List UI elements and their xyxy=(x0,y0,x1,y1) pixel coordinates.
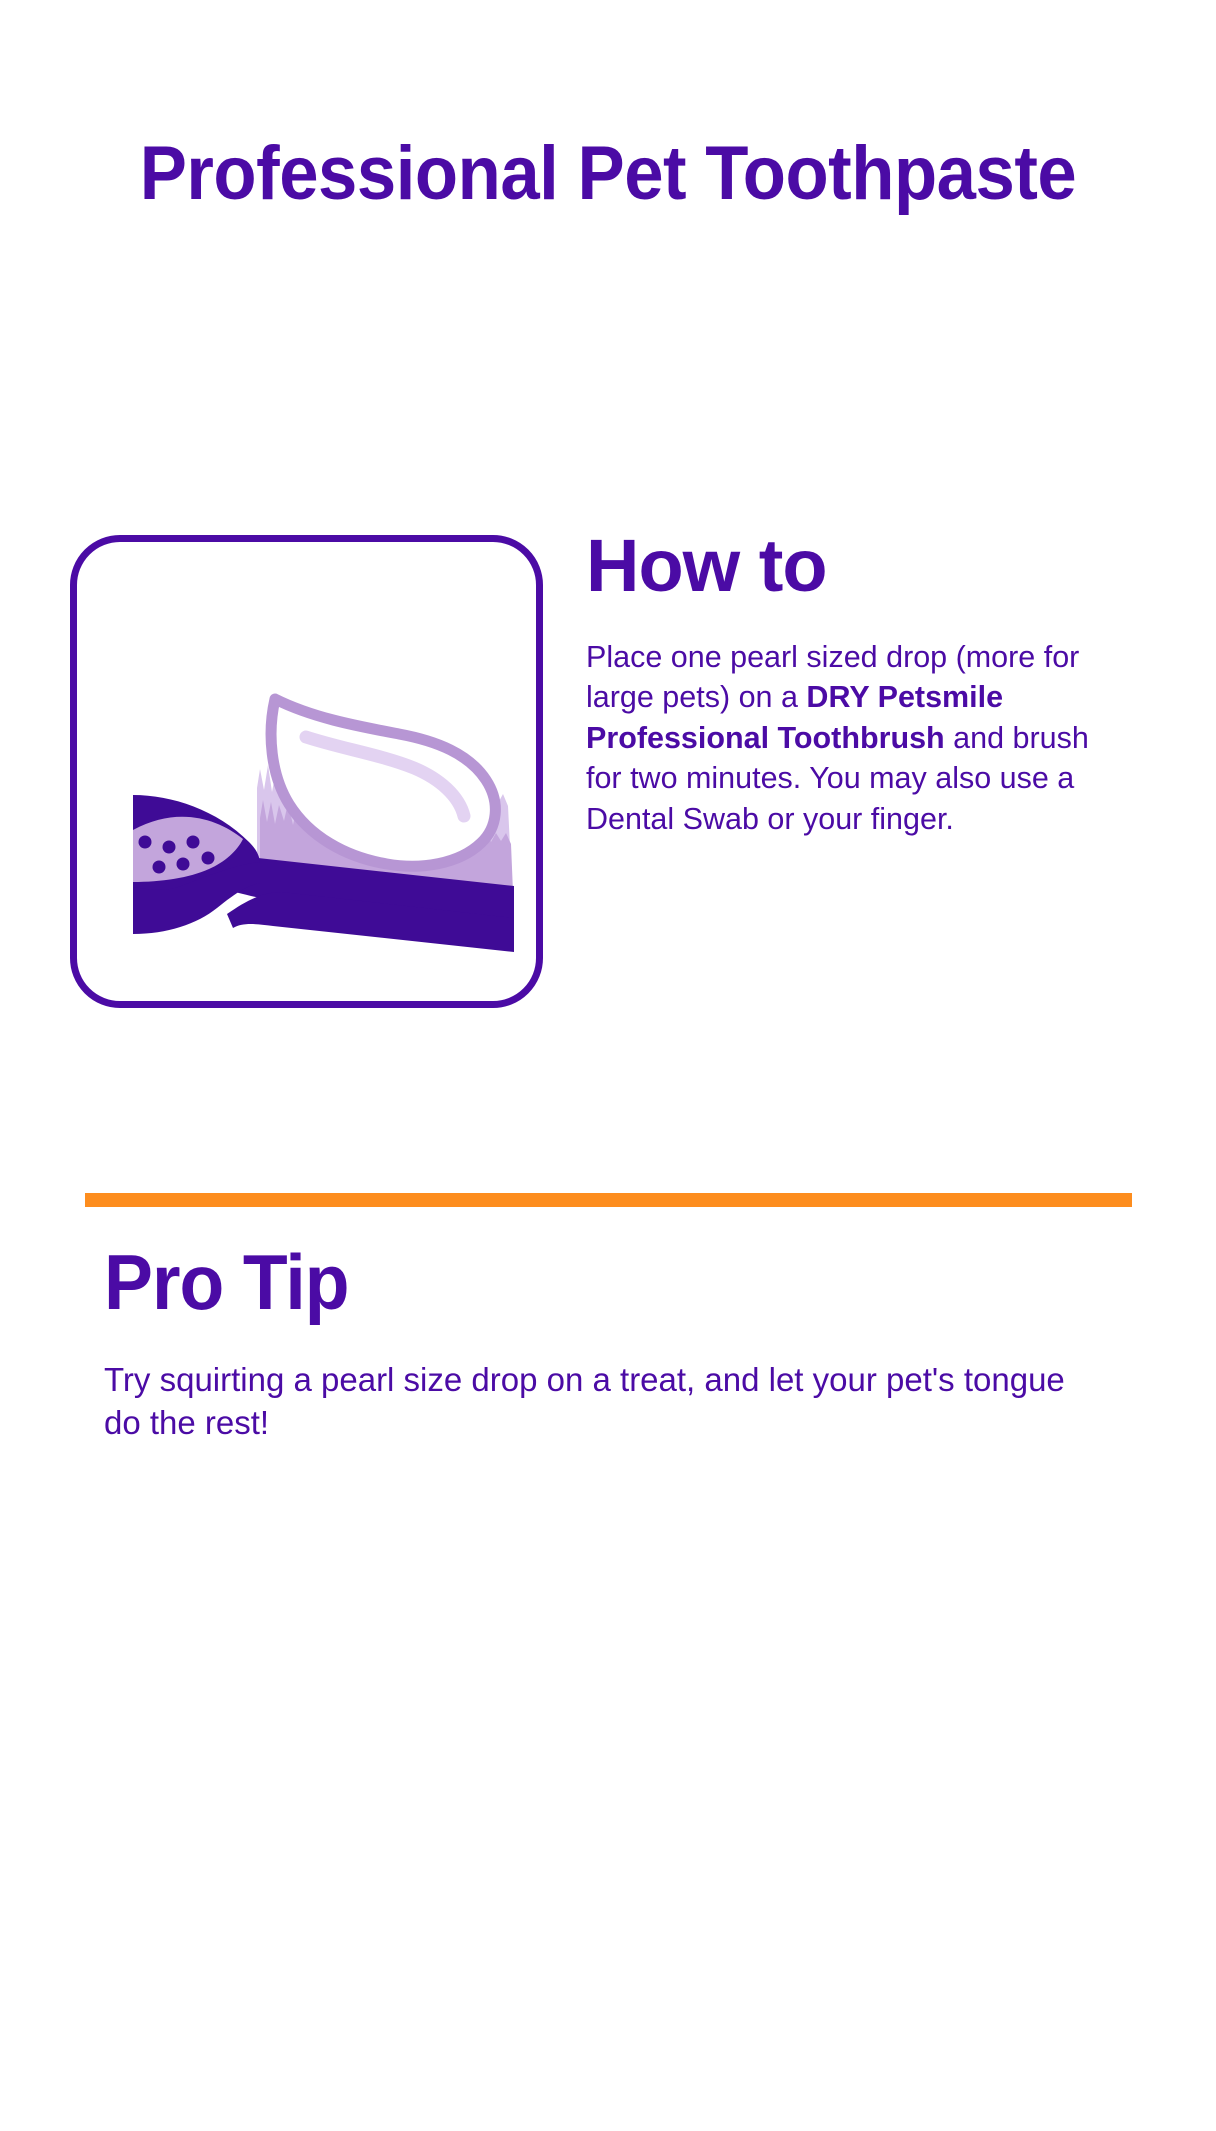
page-title: Professional Pet Toothpaste xyxy=(43,134,1174,215)
how-to-heading: How to xyxy=(586,530,1146,603)
pro-tip-body: Try squirting a pearl size drop on a tre… xyxy=(104,1321,1104,1445)
how-to-text-column: How to Place one pearl sized drop (more … xyxy=(586,530,1146,839)
pro-tip-section: Pro Tip Try squirting a pearl size drop … xyxy=(104,1243,1154,1445)
how-to-section: How to Place one pearl sized drop (more … xyxy=(0,530,1216,1030)
how-to-body: Place one pearl sized drop (more for lar… xyxy=(586,603,1131,840)
illustration-card xyxy=(70,535,543,1008)
orange-divider xyxy=(85,1193,1132,1207)
pet-toothpaste-instruction-page: Professional Pet Toothpaste xyxy=(0,0,1216,2131)
toothbrush-with-toothpaste-icon xyxy=(77,542,536,1001)
pro-tip-heading: Pro Tip xyxy=(104,1243,1091,1321)
